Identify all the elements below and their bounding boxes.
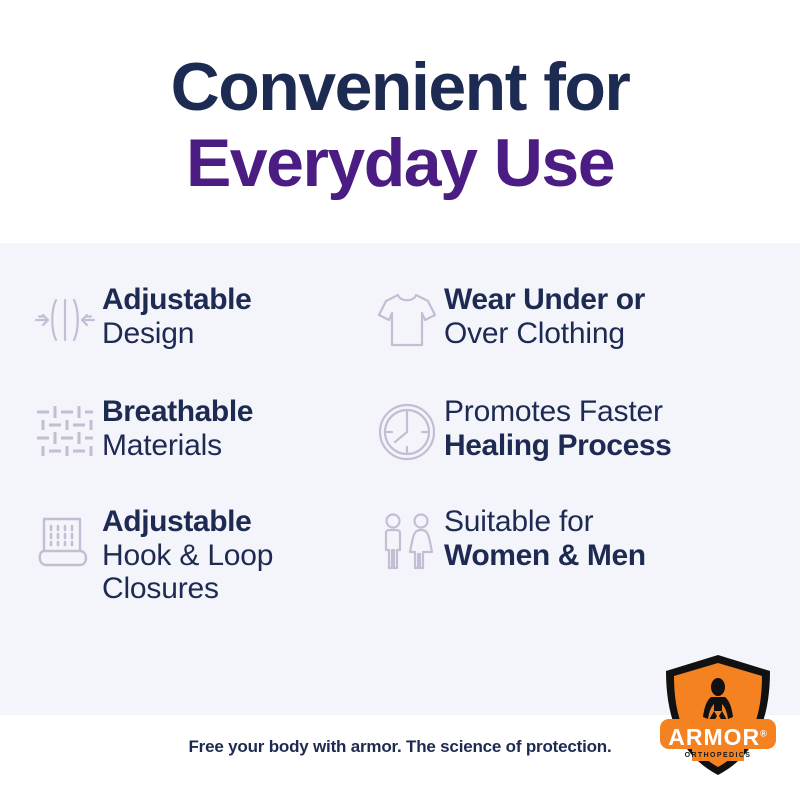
adjustable-compression-arrows-icon (28, 283, 102, 357)
feature-labels: Wear Under or Over Clothing (444, 281, 645, 350)
page-title-line-2: Everyday Use (186, 126, 614, 201)
tshirt-icon (370, 283, 444, 357)
velcro-strap-icon (28, 505, 102, 579)
feature-item-adjustable-design: Adjustable Design (0, 281, 360, 393)
feature-line-1: Breathable (102, 395, 253, 429)
feature-line-1: Promotes Faster (444, 395, 671, 429)
feature-line-2: Hook & Loop (102, 539, 273, 573)
feature-labels: Adjustable Design (102, 281, 251, 350)
woven-mesh-fabric-icon (28, 395, 102, 469)
footer: Free your body with armor. The science o… (0, 715, 800, 800)
feature-labels: Adjustable Hook & Loop Closures (102, 503, 273, 606)
armor-orthopedics-logo: ARMOR® ORTHOPEDICS (648, 645, 788, 785)
feature-item-breathable-materials: Breathable Materials (0, 393, 360, 503)
feature-item-hook-and-loop-closures: Adjustable Hook & Loop Closures (0, 503, 360, 653)
feature-item-healing-process: Promotes Faster Healing Process (360, 393, 800, 503)
logo-subtitle: ORTHOPEDICS (648, 752, 788, 759)
clock-icon (370, 395, 444, 469)
feature-line-2: Healing Process (444, 429, 671, 463)
feature-labels: Breathable Materials (102, 393, 253, 462)
feature-labels: Suitable for Women & Men (444, 503, 646, 572)
feature-grid: Adjustable Design Wear Under or Over Clo… (0, 281, 800, 653)
header: Convenient for Everyday Use (0, 0, 800, 243)
feature-line-3: Closures (102, 572, 273, 606)
feature-line-2: Women & Men (444, 539, 646, 573)
feature-item-wear-under-or-over-clothing: Wear Under or Over Clothing (360, 281, 800, 393)
feature-line-2: Materials (102, 429, 253, 463)
feature-labels: Promotes Faster Healing Process (444, 393, 671, 462)
feature-line-2: Design (102, 317, 251, 351)
man-and-woman-figures-icon (370, 505, 444, 579)
feature-line-1: Wear Under or (444, 283, 645, 317)
feature-line-1: Adjustable (102, 505, 273, 539)
page-title-line-1: Convenient for (171, 52, 630, 123)
feature-line-2: Over Clothing (444, 317, 645, 351)
feature-item-suitable-for-women-and-men: Suitable for Women & Men (360, 503, 800, 653)
feature-line-1: Suitable for (444, 505, 646, 539)
feature-line-1: Adjustable (102, 283, 251, 317)
